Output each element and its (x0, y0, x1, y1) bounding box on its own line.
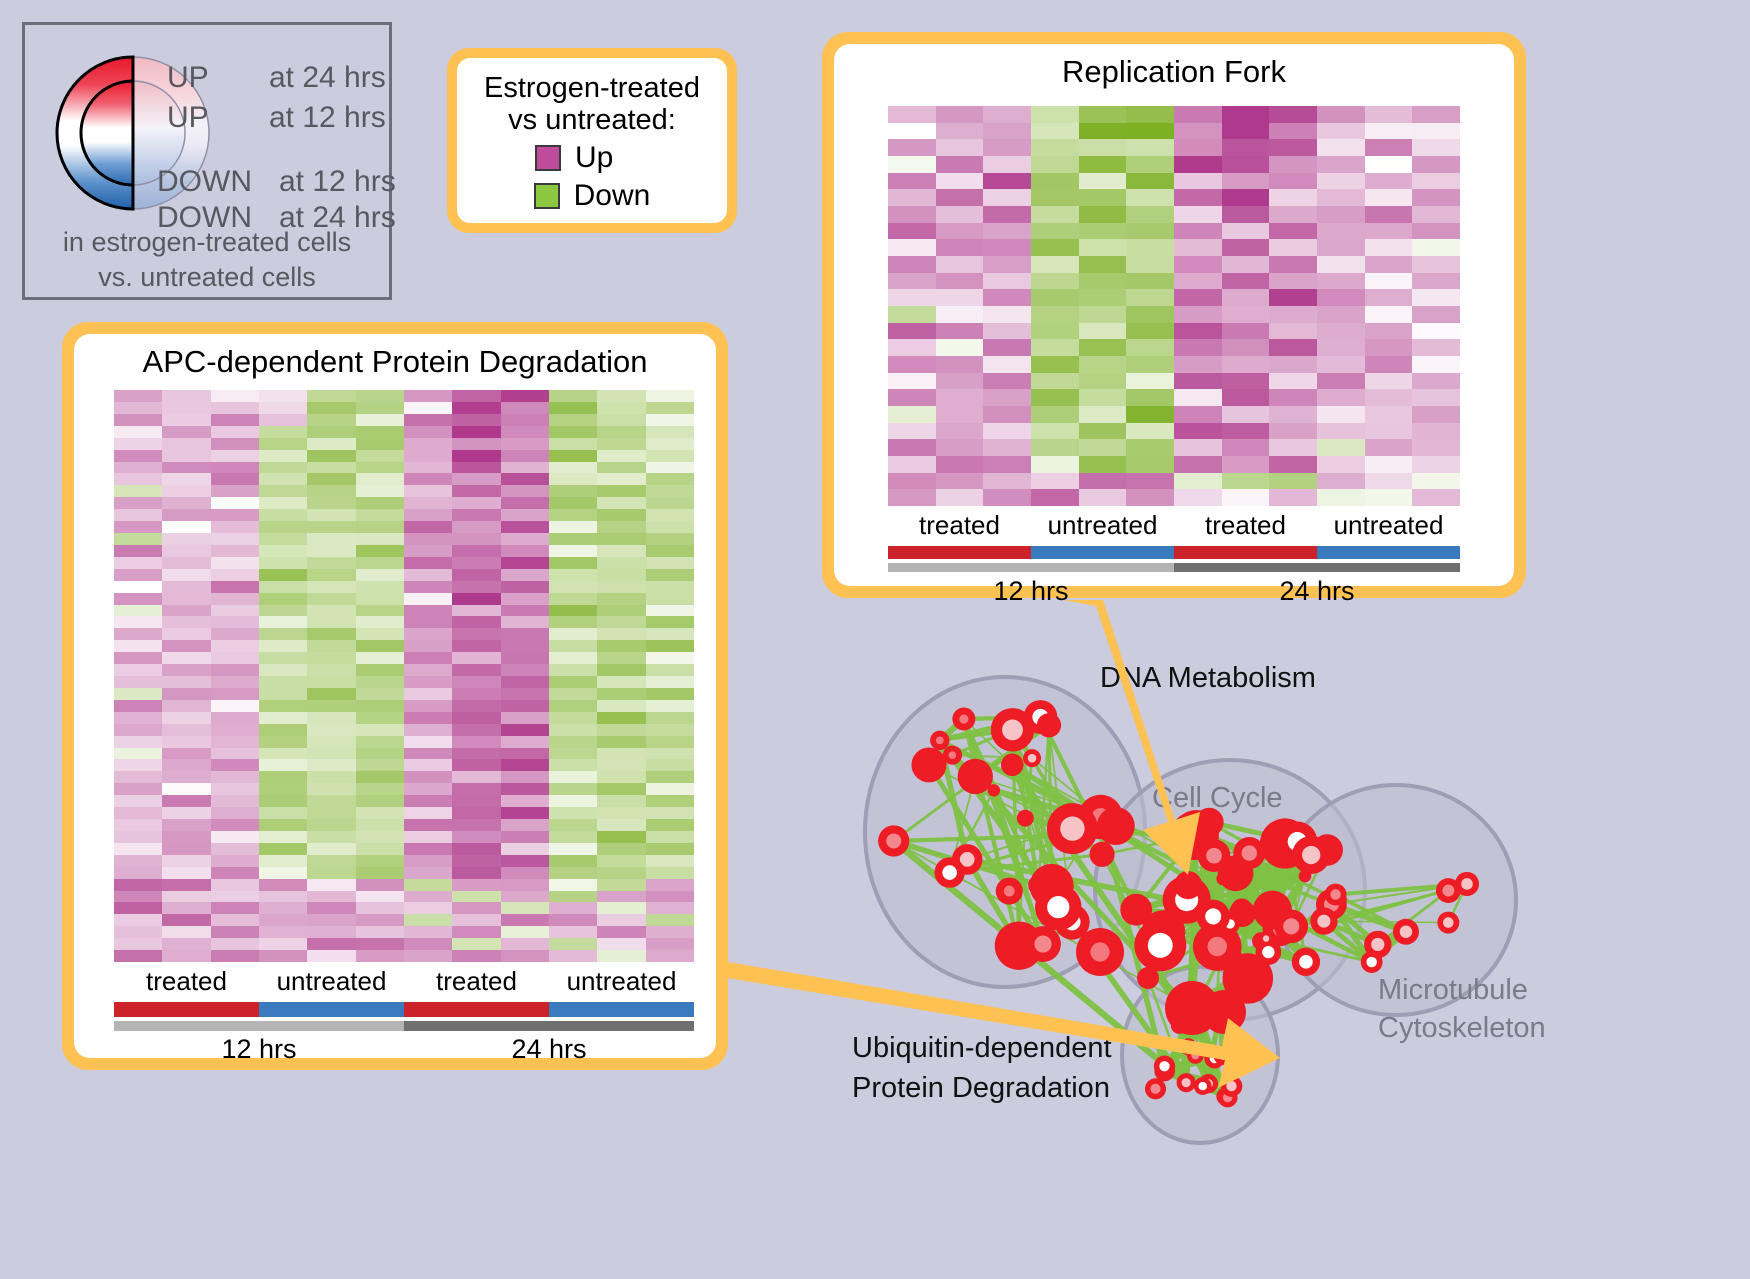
heatmap-cell (646, 950, 694, 962)
heatmap-cell (888, 473, 936, 490)
heatmap-cell (114, 914, 162, 926)
heatmap-cell (162, 831, 210, 843)
heatmap-cell (1031, 339, 1079, 356)
heatmap-cell (162, 462, 210, 474)
heatmap-cell (259, 831, 307, 843)
heatmap-cell (549, 581, 597, 593)
heatmap-cell (162, 593, 210, 605)
heatmap-cell (1269, 439, 1317, 456)
heatmap-cell (404, 748, 452, 760)
heatmap-cell (983, 106, 1031, 123)
heatmap-cell (983, 456, 1031, 473)
heatmap-cell (356, 831, 404, 843)
heatmap-cell (404, 688, 452, 700)
heatmap-cell (1079, 189, 1127, 206)
heatmap-cell (259, 605, 307, 617)
heatmap-cell (549, 390, 597, 402)
heatmap-cell (1031, 373, 1079, 390)
heatmap-cell (452, 569, 500, 581)
heatmap-cell (404, 426, 452, 438)
heatmap-cell (1222, 256, 1270, 273)
heatmap-cell (646, 533, 694, 545)
heatmap-cell (356, 748, 404, 760)
heatmap-cell (307, 485, 355, 497)
heatmap-cell (259, 640, 307, 652)
heatmap-cell (452, 950, 500, 962)
heatmap-cell (211, 402, 259, 414)
heatmap-cell (549, 938, 597, 950)
heatmap-cell (162, 783, 210, 795)
network-node (1177, 1073, 1196, 1092)
heatmap-cell (1126, 456, 1174, 473)
heatmap-cell (1174, 456, 1222, 473)
heatmap-cell (404, 628, 452, 640)
heatmap-cell (646, 807, 694, 819)
heatmap-cell (501, 652, 549, 664)
heatmap-cell (404, 462, 452, 474)
heatmap-cell (114, 628, 162, 640)
heatmap-cell (936, 389, 984, 406)
heatmap-cell (356, 640, 404, 652)
heatmap-cell (452, 664, 500, 676)
heatmap-cell (114, 390, 162, 402)
heatmap-cell (452, 724, 500, 736)
group-label-3: untreated (549, 966, 694, 1000)
heatmap-cell (211, 843, 259, 855)
heatmap-cell (404, 640, 452, 652)
heatmap-cell (646, 843, 694, 855)
heatmap-cell (114, 783, 162, 795)
heatmap-cell (356, 402, 404, 414)
heatmap-cell (501, 402, 549, 414)
heatmap-cell (1174, 439, 1222, 456)
heatmap-cell (1079, 423, 1127, 440)
heatmap-cell (404, 926, 452, 938)
heatmap-cell (307, 688, 355, 700)
heatmap-cell (888, 256, 936, 273)
heatmap-cell (501, 473, 549, 485)
treatment-bar-seg-1 (259, 1002, 404, 1017)
heatmap-cell (983, 373, 1031, 390)
heatmap-cell (936, 439, 984, 456)
key-caption-line1: in estrogen-treated cells (25, 225, 389, 260)
heatmap-cell (307, 855, 355, 867)
cluster-label-ubiquitin-line1: Ubiquitin-dependent (852, 1032, 1112, 1065)
heatmap-cell (1317, 456, 1365, 473)
heatmap-cell (211, 902, 259, 914)
heatmap-cell (259, 688, 307, 700)
heatmap-cell (114, 902, 162, 914)
heatmap-cell (597, 807, 645, 819)
heatmap-cell (1126, 239, 1174, 256)
heatmap-cell (1269, 206, 1317, 223)
up-color-swatch (535, 145, 561, 171)
heatmap-cell (501, 771, 549, 783)
heatmap-cell (211, 879, 259, 891)
heatmap-cell (259, 759, 307, 771)
heatmap-cell (1269, 256, 1317, 273)
heatmap-cell (211, 795, 259, 807)
key-time-down-12: at 12 hrs (279, 165, 396, 199)
heatmap-cell (597, 736, 645, 748)
heatmap-cell (114, 748, 162, 760)
network-node (1259, 932, 1272, 945)
heatmap-cell (1222, 306, 1270, 323)
heatmap-cell (211, 652, 259, 664)
heatmap-cell (452, 557, 500, 569)
heatmap-cell (356, 521, 404, 533)
heatmap-cell (936, 306, 984, 323)
heatmap-cell (597, 593, 645, 605)
heatmap-cell (162, 509, 210, 521)
heatmap-cell (114, 450, 162, 462)
heatmap-cell (1126, 123, 1174, 140)
heatmap-cell (1317, 306, 1365, 323)
network-node (1213, 1045, 1233, 1065)
heatmap-cell (549, 724, 597, 736)
treatment-bar-seg-0 (888, 546, 1031, 559)
heatmap-cell (1269, 173, 1317, 190)
heatmap-cell (452, 831, 500, 843)
heatmap-cell (1174, 123, 1222, 140)
heatmap-cell (1222, 323, 1270, 340)
panel-apc-degradation: APC-dependent Protein Degradation treate… (62, 322, 728, 1070)
heatmap-cell (114, 545, 162, 557)
heatmap-cell (1269, 289, 1317, 306)
heatmap-cell (646, 938, 694, 950)
heatmap-cell (114, 807, 162, 819)
heatmap-cell (356, 712, 404, 724)
heatmap-cell (114, 581, 162, 593)
heatmap-cell (597, 462, 645, 474)
network-node (996, 878, 1023, 905)
heatmap-cell (404, 664, 452, 676)
heatmap-cell (162, 605, 210, 617)
heatmap-cell (452, 843, 500, 855)
group-label-0: treated (114, 966, 259, 1000)
heatmap-cell (936, 189, 984, 206)
heatmap-cell (983, 256, 1031, 273)
heatmap-cell (162, 676, 210, 688)
network-node (952, 708, 975, 731)
heatmap-cell (452, 688, 500, 700)
heatmap-cell (936, 356, 984, 373)
heatmap-cell (597, 938, 645, 950)
heatmap-cell (549, 426, 597, 438)
heatmap-cell (356, 676, 404, 688)
heatmap-cell (597, 473, 645, 485)
network-node (958, 759, 993, 794)
heatmap-cell (114, 473, 162, 485)
heatmap-cell (452, 497, 500, 509)
heatmap-cell (1126, 306, 1174, 323)
network-node (1137, 967, 1159, 989)
heatmap-cell (1365, 373, 1413, 390)
heatmap-cell (1174, 173, 1222, 190)
heatmap-cell (1269, 139, 1317, 156)
heatmap-cell (1365, 139, 1413, 156)
heatmap-cell (597, 605, 645, 617)
heatmap-cell (162, 628, 210, 640)
heatmap-cell (1174, 106, 1222, 123)
heatmap-cell (404, 783, 452, 795)
network-node (1145, 1078, 1166, 1099)
heatmap-cell (356, 426, 404, 438)
heatmap-cell (452, 533, 500, 545)
heatmap-cell (259, 795, 307, 807)
network-svg (800, 600, 1750, 1279)
heatmap-cell (1079, 256, 1127, 273)
heatmap-cell (211, 783, 259, 795)
heatmap-cell (501, 605, 549, 617)
heatmap-cell (1222, 223, 1270, 240)
heatmap-cell (597, 867, 645, 879)
heatmap-cell (888, 173, 936, 190)
heatmap-cell (452, 473, 500, 485)
heatmap-cell (259, 462, 307, 474)
heatmap-cell (404, 795, 452, 807)
heatmap-cell (1317, 489, 1365, 506)
network-node (943, 746, 962, 765)
heatmap-cell (114, 688, 162, 700)
heatmap-cell (646, 569, 694, 581)
heatmap-cell (501, 712, 549, 724)
heatmap-cell (888, 189, 936, 206)
legend-item-up: Up (463, 141, 721, 175)
heatmap-cell (1412, 356, 1460, 373)
key-label-up-24: UP (167, 61, 209, 95)
panel-replication-fork: Replication Fork treated untreated treat… (822, 32, 1526, 598)
heatmap-cell (452, 891, 500, 903)
heatmap-cell (1269, 489, 1317, 506)
heatmap-cell (307, 724, 355, 736)
heatmap-cell (211, 700, 259, 712)
heatmap-cell (452, 676, 500, 688)
group-label-3: untreated (1317, 510, 1460, 544)
heatmap-cell (549, 545, 597, 557)
heatmap-cell (597, 533, 645, 545)
heatmap-cell (1412, 323, 1460, 340)
network-node (1274, 910, 1308, 944)
heatmap-cell (1365, 356, 1413, 373)
heatmap-cell (211, 640, 259, 652)
heatmap-cell (259, 926, 307, 938)
heatmap-cell (356, 390, 404, 402)
heatmap-cell (597, 521, 645, 533)
heatmap-cell (114, 640, 162, 652)
heatmap-cell (597, 450, 645, 462)
heatmap-cell (259, 819, 307, 831)
heatmap-cell (1174, 139, 1222, 156)
heatmap-cell (114, 879, 162, 891)
heatmap-cell (501, 497, 549, 509)
heatmap-cell (404, 700, 452, 712)
heatmap-cell (549, 843, 597, 855)
heatmap-cell (549, 748, 597, 760)
heatmap-cell (501, 938, 549, 950)
heatmap-cell (1031, 406, 1079, 423)
heatmap-cell (307, 819, 355, 831)
heatmap-cell (646, 736, 694, 748)
heatmap-cell (1031, 223, 1079, 240)
heatmap-cell (452, 926, 500, 938)
heatmap-cell (404, 712, 452, 724)
heatmap-cell (501, 700, 549, 712)
heatmap-cell (597, 664, 645, 676)
heatmap-cell (501, 736, 549, 748)
heatmap-cell (162, 855, 210, 867)
heatmap-cell (452, 402, 500, 414)
heatmap-cell (1222, 489, 1270, 506)
heatmap-cell (404, 914, 452, 926)
heatmap-cell (307, 545, 355, 557)
heatmap-cell (211, 628, 259, 640)
heatmap-cell (983, 156, 1031, 173)
up-label: Up (575, 141, 649, 175)
heatmap-cell (307, 450, 355, 462)
heatmap-cell (211, 593, 259, 605)
heatmap-cell (597, 676, 645, 688)
heatmap-cell (259, 771, 307, 783)
heatmap-cell (259, 676, 307, 688)
heatmap-cell (211, 748, 259, 760)
heatmap-cell (114, 843, 162, 855)
heatmap-cell (307, 938, 355, 950)
heatmap-cell (259, 473, 307, 485)
heatmap-cell (983, 323, 1031, 340)
heatmap-cell (452, 771, 500, 783)
network-node (934, 857, 964, 887)
heatmap-cell (1269, 223, 1317, 240)
heatmap-cell (404, 867, 452, 879)
heatmap-cell (1365, 189, 1413, 206)
heatmap-cell (501, 640, 549, 652)
heatmap-cell (1174, 473, 1222, 490)
heatmap-cell (983, 223, 1031, 240)
heatmap-cell (259, 593, 307, 605)
heatmap-cell (597, 819, 645, 831)
heatmap-cell (114, 438, 162, 450)
heatmap-cell (211, 605, 259, 617)
down-color-swatch (534, 183, 560, 209)
heatmap-cell (501, 795, 549, 807)
heatmap-cell (1317, 323, 1365, 340)
heatmap-cell (501, 807, 549, 819)
heatmap-cell (452, 736, 500, 748)
heatmap-cell (1126, 106, 1174, 123)
heatmap-cell (1126, 356, 1174, 373)
heatmap-cell (356, 914, 404, 926)
heatmap-cell (501, 569, 549, 581)
heatmap-cell (1365, 339, 1413, 356)
heatmap-cell (1317, 373, 1365, 390)
heatmap-cell (646, 581, 694, 593)
heatmap-cell (1412, 473, 1460, 490)
heatmap-cell (162, 390, 210, 402)
heatmap-cell (259, 664, 307, 676)
heatmap-cell (404, 819, 452, 831)
heatmap-cell (211, 473, 259, 485)
network-node (1198, 839, 1231, 872)
heatmap-cell (162, 914, 210, 926)
heatmap-cell (646, 664, 694, 676)
heatmap-cell (888, 373, 936, 390)
heatmap-cell (1079, 223, 1127, 240)
group-label-1: untreated (1031, 510, 1174, 544)
heatmap-cell (162, 724, 210, 736)
heatmap-cell (356, 902, 404, 914)
heatmap-cell (501, 867, 549, 879)
heatmap-cell (1126, 439, 1174, 456)
network-node (1437, 912, 1459, 934)
heatmap-cell (549, 652, 597, 664)
heatmap-cell (356, 807, 404, 819)
heatmap-cell (549, 712, 597, 724)
heatmap-cell (259, 867, 307, 879)
heatmap-cell (452, 628, 500, 640)
heatmap-cell (307, 783, 355, 795)
heatmap-cell (597, 926, 645, 938)
heatmap-cell (114, 497, 162, 509)
heatmap-cell (1174, 273, 1222, 290)
heatmap-cell (501, 783, 549, 795)
heatmap-cell (1126, 189, 1174, 206)
heatmap-cell (646, 628, 694, 640)
heatmap-cell (888, 289, 936, 306)
heatmap-cell (114, 724, 162, 736)
replication-treatment-bar (888, 546, 1460, 559)
heatmap-cell (888, 323, 936, 340)
heatmap-cell (452, 616, 500, 628)
heatmap-cell (983, 389, 1031, 406)
heatmap-cell (356, 843, 404, 855)
heatmap-cell (211, 914, 259, 926)
heatmap-cell (549, 950, 597, 962)
heatmap-cell (114, 521, 162, 533)
heatmap-cell (211, 557, 259, 569)
heatmap-cell (307, 712, 355, 724)
heatmap-cell (549, 438, 597, 450)
heatmap-cell (452, 748, 500, 760)
heatmap-cell (646, 390, 694, 402)
heatmap-cell (162, 426, 210, 438)
heatmap-cell (936, 173, 984, 190)
heatmap-cell (356, 533, 404, 545)
network-node (1194, 1077, 1212, 1095)
heatmap-cell (1412, 373, 1460, 390)
heatmap-cell (404, 485, 452, 497)
heatmap-cell (452, 521, 500, 533)
heatmap-cell (983, 339, 1031, 356)
heatmap-cell (114, 771, 162, 783)
heatmap-cell (1174, 156, 1222, 173)
heatmap-cell (356, 593, 404, 605)
heatmap-cell (936, 239, 984, 256)
heatmap-cell (1126, 423, 1174, 440)
heatmap-cell (501, 390, 549, 402)
heatmap-cell (501, 914, 549, 926)
heatmap-cell (1317, 156, 1365, 173)
heatmap-cell (452, 509, 500, 521)
heatmap-cell (307, 640, 355, 652)
heatmap-cell (1269, 106, 1317, 123)
heatmap-cell (549, 593, 597, 605)
heatmap-cell (1365, 289, 1413, 306)
apc-time-bar (114, 1021, 694, 1031)
heatmap-cell (211, 390, 259, 402)
heatmap-cell (162, 891, 210, 903)
heatmap-cell (452, 855, 500, 867)
